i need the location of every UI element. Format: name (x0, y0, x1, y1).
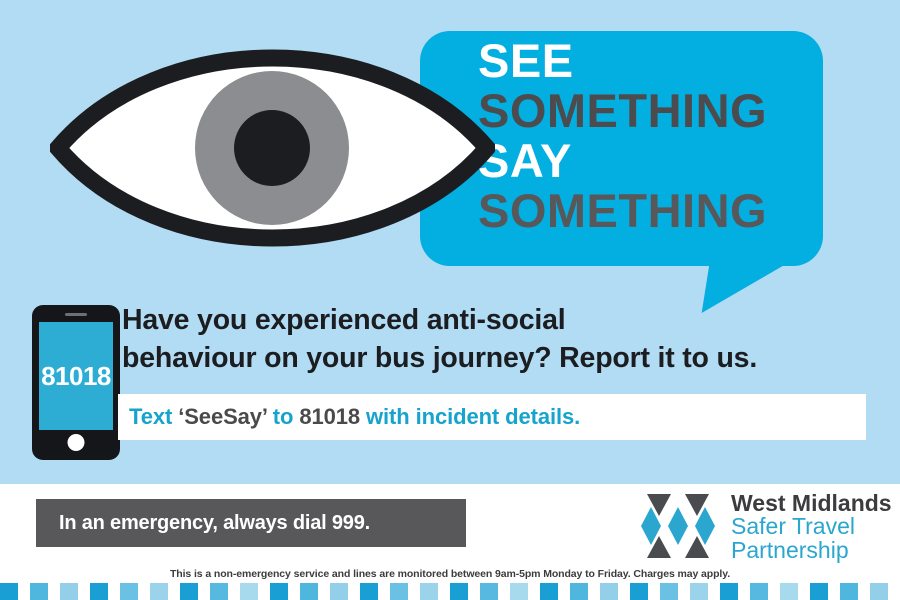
disclaimer-text: This is a non-emergency service and line… (0, 568, 900, 580)
strip-square (840, 583, 858, 600)
west-midlands-chevron-mark-icon (637, 494, 721, 558)
phone-shortcode: 81018 (41, 361, 111, 392)
strip-square (330, 583, 348, 600)
decorative-square-strip (0, 583, 900, 600)
phone-speaker (65, 313, 87, 316)
logo-line-safer-travel: Safer Travel (731, 515, 892, 538)
instruction-seg-keyword: ‘SeeSay’ (178, 404, 267, 429)
strip-square (450, 583, 468, 600)
eye-pupil (234, 110, 310, 186)
instruction-seg-text: Text (129, 404, 178, 429)
strip-square (600, 583, 618, 600)
headline-line-1: Have you experienced anti-social (122, 302, 882, 340)
strip-square (60, 583, 78, 600)
phone-home-button (68, 434, 85, 451)
logo-line-partnership: Partnership (731, 539, 892, 562)
slogan-block: SEE SOMETHING SAY SOMETHING (478, 38, 828, 234)
instruction-seg-details: with incident details. (360, 404, 580, 429)
strip-square (720, 583, 738, 600)
logo-diamond-2 (668, 507, 688, 545)
logo-wordmark: West Midlands Safer Travel Partnership (731, 492, 892, 562)
strip-square (300, 583, 318, 600)
strip-square (120, 583, 138, 600)
strip-square (0, 583, 18, 600)
slogan-line-something1: SOMETHING (478, 88, 828, 134)
logo-line-west-midlands: West Midlands (731, 492, 892, 515)
instruction-text: Text ‘SeeSay’ to 81018 with incident det… (118, 404, 580, 430)
instruction-seg-shortcode: 81018 (299, 404, 360, 429)
strip-square (540, 583, 558, 600)
strip-square (240, 583, 258, 600)
phone-screen: 81018 (39, 322, 113, 430)
strip-square (750, 583, 768, 600)
strip-square (360, 583, 378, 600)
strip-square (690, 583, 708, 600)
emergency-bar: In an emergency, always dial 999. (36, 499, 466, 547)
strip-square (270, 583, 288, 600)
slogan-line-say: SAY (478, 138, 828, 184)
strip-square (420, 583, 438, 600)
strip-square (630, 583, 648, 600)
strip-square (180, 583, 198, 600)
strip-square (570, 583, 588, 600)
emergency-text: In an emergency, always dial 999. (36, 512, 370, 535)
strip-square (90, 583, 108, 600)
instruction-seg-to: to (267, 404, 300, 429)
mobile-phone-icon: 81018 (32, 305, 120, 460)
strip-square (150, 583, 168, 600)
strip-square (510, 583, 528, 600)
poster-top-section: SEE SOMETHING SAY SOMETHING 81018 Have y… (0, 0, 900, 484)
headline: Have you experienced anti-social behavio… (122, 302, 882, 378)
headline-line-2: behaviour on your bus journey? Report it… (122, 340, 882, 378)
strip-square (660, 583, 678, 600)
slogan-line-see: SEE (478, 38, 828, 84)
strip-square (30, 583, 48, 600)
strip-square (390, 583, 408, 600)
strip-square (780, 583, 798, 600)
strip-square (810, 583, 828, 600)
strip-square (210, 583, 228, 600)
strip-square (870, 583, 888, 600)
slogan-line-something2: SOMETHING (478, 188, 828, 234)
instruction-band: Text ‘SeeSay’ to 81018 with incident det… (118, 394, 866, 440)
eye-icon (50, 20, 495, 275)
partnership-logo: West Midlands Safer Travel Partnership (637, 492, 882, 560)
strip-square (480, 583, 498, 600)
